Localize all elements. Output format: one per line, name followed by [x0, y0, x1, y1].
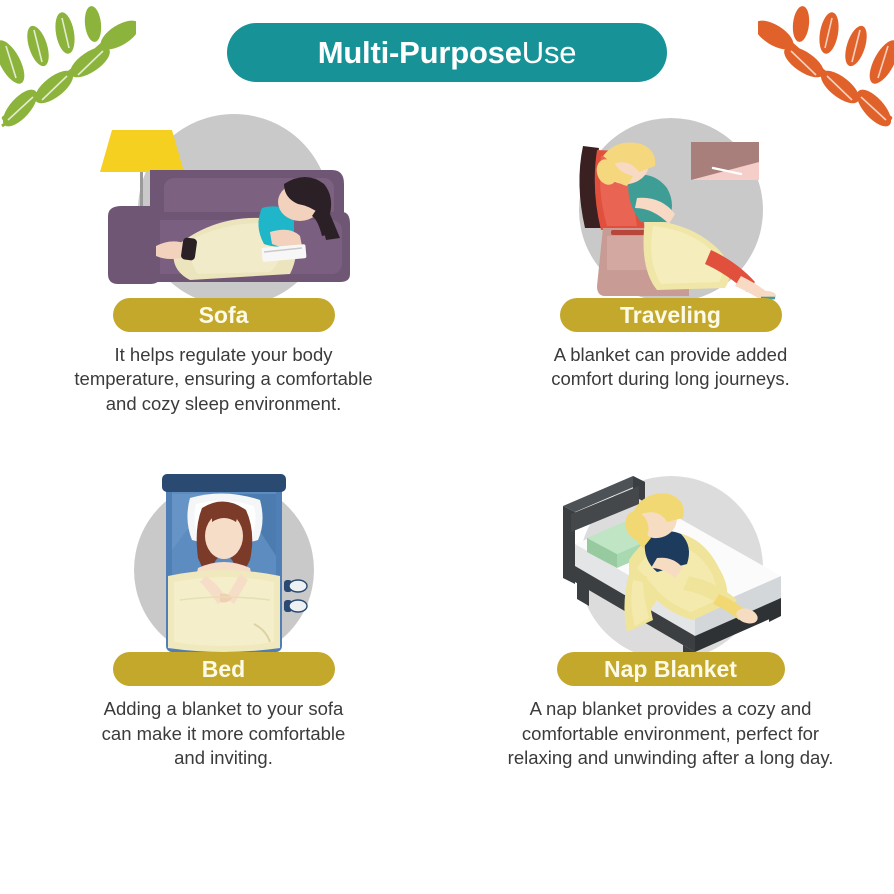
- woman-reclining-in-travel-seat-illustration: [541, 110, 801, 310]
- infographic-page: Multi-PurposeUse: [0, 0, 894, 894]
- card-label-text: Traveling: [620, 304, 721, 327]
- card-label-text: Sofa: [199, 304, 249, 327]
- woman-on-sofa-illustration: [94, 110, 354, 310]
- card-description-bed: Adding a blanket to your sofa can make i…: [59, 697, 389, 770]
- card-description-traveling: A blanket can provide added comfort duri…: [506, 343, 836, 392]
- feature-card-bed: Bed Adding a blanket to your sofa can ma…: [0, 464, 447, 770]
- card-label-text: Nap Blanket: [604, 658, 737, 681]
- feature-card-traveling: Traveling A blanket can provide added co…: [447, 110, 894, 416]
- card-label-bed: Bed: [113, 652, 335, 686]
- card-label-nap-blanket: Nap Blanket: [557, 652, 785, 686]
- page-title-light: Use: [522, 35, 577, 70]
- card-description-sofa: It helps regulate your body temperature,…: [34, 343, 414, 416]
- card-description-nap-blanket: A nap blanket provides a cozy and comfor…: [471, 697, 871, 770]
- page-title: Multi-PurposeUse: [318, 37, 577, 68]
- feature-card-sofa: Sofa It helps regulate your body tempera…: [0, 110, 447, 416]
- card-label-traveling: Traveling: [560, 298, 782, 332]
- feature-grid: Sofa It helps regulate your body tempera…: [0, 110, 894, 770]
- page-title-banner: Multi-PurposeUse: [227, 23, 667, 82]
- card-label-text: Bed: [202, 658, 245, 681]
- page-title-bold: Multi-Purpose: [318, 35, 522, 70]
- feature-card-nap-blanket: Nap Blanket A nap blanket provides a coz…: [447, 464, 894, 770]
- woman-sleeping-in-bed-top-view-illustration: [94, 464, 354, 664]
- card-label-sofa: Sofa: [113, 298, 335, 332]
- person-napping-on-bed-isometric-illustration: [541, 464, 801, 664]
